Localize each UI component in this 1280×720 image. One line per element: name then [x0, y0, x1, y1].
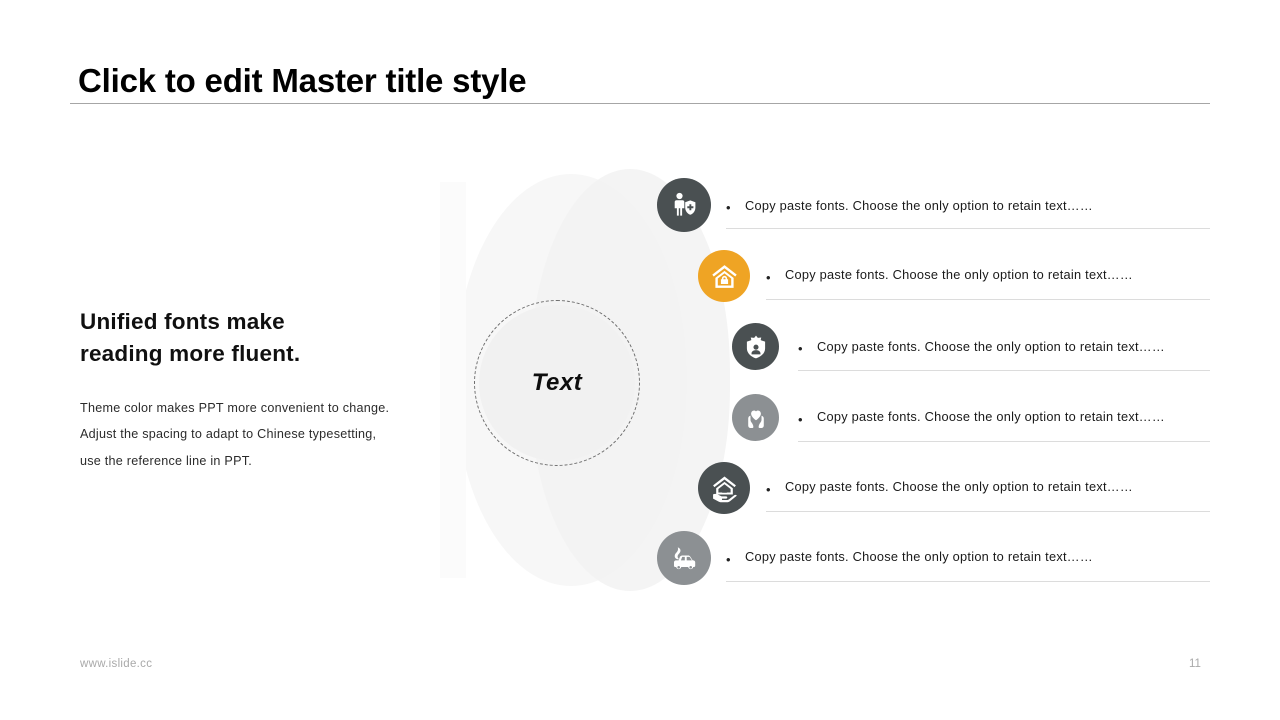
footer-page-number: 11 [1180, 658, 1210, 670]
slide-canvas: Click to edit Master title style Unified… [0, 0, 1280, 720]
house-lock-icon[interactable] [698, 250, 750, 302]
hands-heart-icon[interactable] [732, 394, 779, 441]
footer-url[interactable]: www.islide.cc [80, 658, 152, 670]
house-on-hand-icon[interactable] [698, 462, 750, 514]
list-item-divider [766, 299, 1210, 300]
list-item-bullet: • [798, 413, 803, 426]
list-item-divider [798, 370, 1210, 371]
list-item-text: Copy paste fonts. Choose the only option… [745, 551, 1093, 564]
list-item-bullet: • [726, 553, 731, 566]
list-item-bullet: • [798, 342, 803, 355]
list-item-bullet: • [766, 271, 771, 284]
car-flame-icon[interactable] [657, 531, 711, 585]
list-item-text: Copy paste fonts. Choose the only option… [785, 269, 1133, 282]
feature-list: • Copy paste fonts. Choose the only opti… [0, 0, 1280, 720]
list-item-text: Copy paste fonts. Choose the only option… [817, 341, 1165, 354]
list-item-bullet: • [766, 483, 771, 496]
person-shield-icon[interactable] [657, 178, 711, 232]
police-badge-shield-icon[interactable] [732, 323, 779, 370]
list-item-divider [798, 441, 1210, 442]
list-item-bullet: • [726, 201, 731, 214]
list-item-divider [726, 581, 1210, 582]
list-item-text: Copy paste fonts. Choose the only option… [745, 200, 1093, 213]
list-item-divider [726, 228, 1210, 229]
list-item-text: Copy paste fonts. Choose the only option… [817, 411, 1165, 424]
list-item-divider [766, 511, 1210, 512]
list-item-text: Copy paste fonts. Choose the only option… [785, 481, 1133, 494]
